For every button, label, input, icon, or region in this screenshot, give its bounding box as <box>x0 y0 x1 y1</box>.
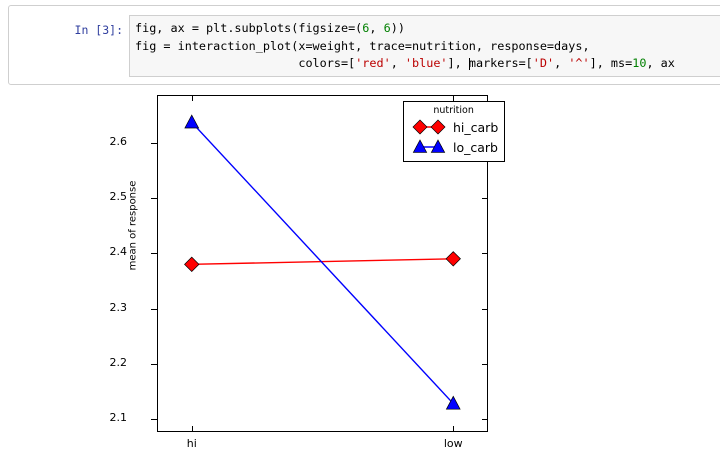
code-token: fig, ax = plt.subplots(figsize=( <box>135 21 362 35</box>
legend-label: hi_carb <box>453 120 498 135</box>
code-token: , <box>369 21 383 35</box>
y-tick-label: 2.6 <box>87 135 127 148</box>
code-line: fig = interaction_plot(x=weight, trace=n… <box>135 38 675 56</box>
y-tick-label: 2.1 <box>87 411 127 424</box>
code-token: 10 <box>632 56 646 70</box>
code-token: '^' <box>568 56 589 70</box>
code-token: )) <box>391 21 405 35</box>
legend-marker-sample <box>409 138 449 156</box>
y-tick-label: 2.5 <box>87 190 127 203</box>
code-token: colors=[ <box>135 56 355 70</box>
legend-item: hi_carb <box>409 117 498 137</box>
data-point-marker <box>446 252 460 266</box>
y-tick-label: 2.4 <box>87 245 127 258</box>
matplotlib-figure: mean of response 2.12.22.32.42.52.6 hilo… <box>110 88 510 448</box>
code-token: , <box>554 56 568 70</box>
code-token: ], ms= <box>590 56 633 70</box>
code-token: 6 <box>384 21 391 35</box>
code-text: fig, ax = plt.subplots(figsize=(6, 6))fi… <box>135 20 675 73</box>
code-token: ], <box>448 56 469 70</box>
legend-item: lo_carb <box>409 137 498 157</box>
code-token: fig = interaction_plot(x=weight, trace=n… <box>135 39 590 53</box>
code-token: markers=[ <box>469 56 533 70</box>
chart-legend: nutrition hi_carblo_carb <box>403 101 505 162</box>
data-point-marker <box>185 257 199 271</box>
y-axis-label: mean of response <box>128 171 139 281</box>
legend-marker-sample <box>409 118 449 136</box>
code-token: , <box>391 56 405 70</box>
x-tick-label: hi <box>162 437 222 450</box>
y-tick-label: 2.3 <box>87 301 127 314</box>
legend-label: lo_carb <box>453 140 498 155</box>
legend-title: nutrition <box>409 105 498 116</box>
code-editor[interactable]: fig, ax = plt.subplots(figsize=(6, 6))fi… <box>129 15 720 77</box>
notebook-page: In [3]: fig, ax = plt.subplots(figsize=(… <box>0 0 720 450</box>
data-point-marker <box>185 115 199 128</box>
cell-execution-prompt: In [3]: <box>47 23 123 37</box>
y-tick-label: 2.2 <box>87 356 127 369</box>
code-line: fig, ax = plt.subplots(figsize=(6, 6)) <box>135 20 675 38</box>
x-tick-label: low <box>423 437 483 450</box>
code-token: 'D' <box>533 56 554 70</box>
code-token: 'blue' <box>405 56 448 70</box>
notebook-cell[interactable]: In [3]: fig, ax = plt.subplots(figsize=(… <box>8 5 720 85</box>
code-token: 'red' <box>355 56 391 70</box>
code-line: colors=['red', 'blue'], markers=['D', '^… <box>135 55 675 73</box>
code-token: , ax <box>646 56 674 70</box>
